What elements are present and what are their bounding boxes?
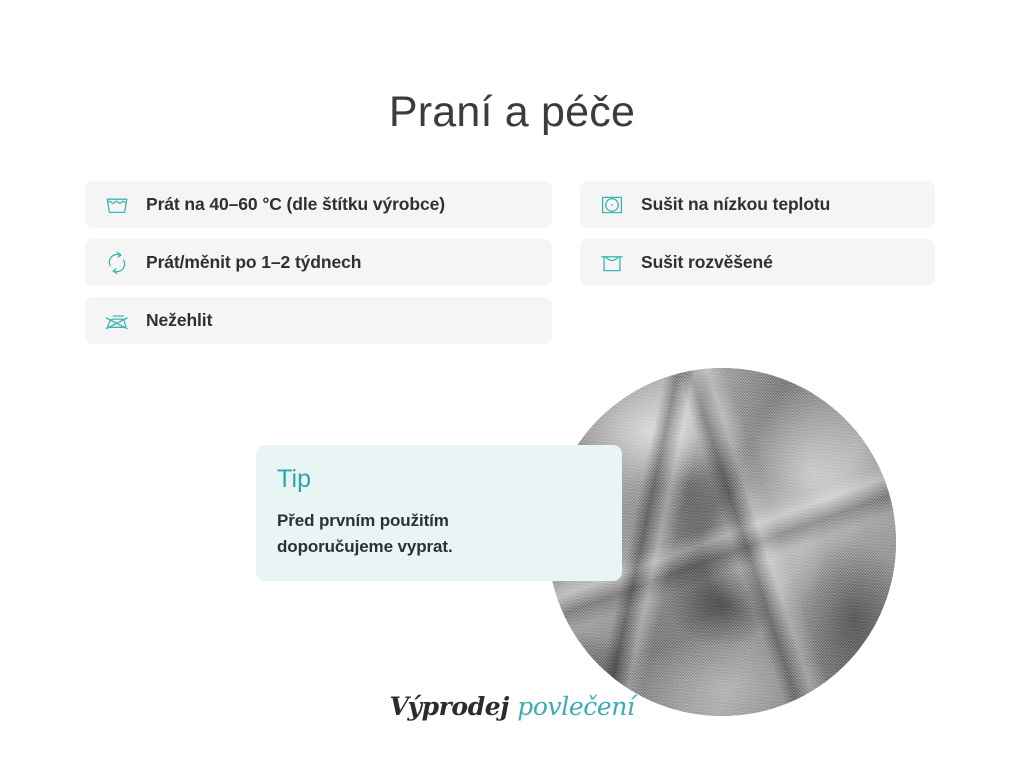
care-item-label: Prát/měnit po 1–2 týdnech (146, 252, 361, 273)
wash-tub-icon (102, 190, 132, 220)
care-item-no-iron: Nežehlit (85, 297, 552, 344)
tip-body-line-2: doporučujeme vyprat. (277, 534, 596, 560)
care-item-label: Nežehlit (146, 310, 212, 331)
tip-body: Před prvním použitím doporučujeme vyprat… (277, 508, 596, 561)
care-item-tumble-dry-low: Sušit na nízkou teplotu (580, 181, 935, 228)
care-item-wash-frequency: Prát/měnit po 1–2 týdnech (85, 239, 552, 286)
care-item-line-dry: Sušit rozvěšené (580, 239, 935, 286)
care-list-left-column: Prát na 40–60 °C (dle štítku výrobce) Pr… (85, 181, 552, 344)
page-title: Praní a péče (0, 87, 1024, 139)
care-item-wash-temperature: Prát na 40–60 °C (dle štítku výrobce) (85, 181, 552, 228)
no-iron-icon (102, 306, 132, 336)
care-instructions-page: Praní a péče Prát na 40–60 °C (dle štítk… (0, 0, 1024, 768)
care-item-label: Sušit rozvěšené (641, 252, 773, 273)
brand-logo-word-2: povlečení (517, 692, 634, 721)
care-item-label: Prát na 40–60 °C (dle štítku výrobce) (146, 194, 445, 215)
brand-logo-word-1: Výprodej (389, 692, 508, 721)
tip-title: Tip (277, 467, 596, 492)
brand-logo: Výprodej povlečení (0, 692, 1024, 721)
care-item-label: Sušit na nízkou teplotu (641, 194, 830, 215)
line-dry-icon (597, 248, 627, 278)
tumble-dry-low-icon (597, 190, 627, 220)
refresh-cycle-icon (102, 248, 132, 278)
care-list-right-column: Sušit na nízkou teplotu Sušit rozvěšené (580, 181, 935, 286)
tip-card: Tip Před prvním použitím doporučujeme vy… (256, 445, 622, 581)
tip-body-line-1: Před prvním použitím (277, 508, 596, 534)
